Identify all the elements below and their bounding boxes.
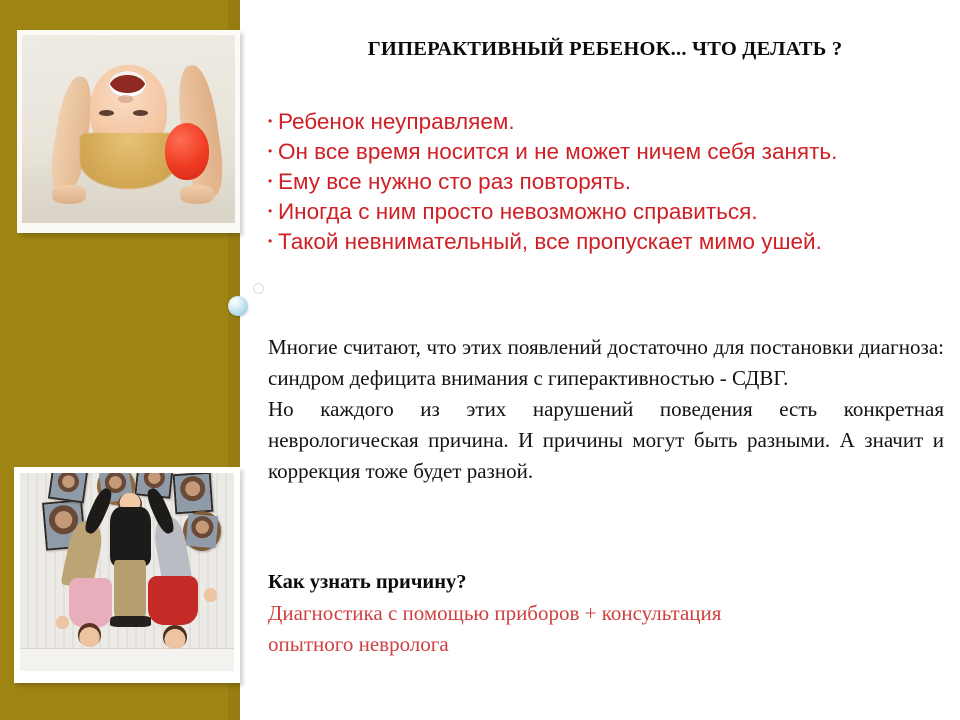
wall-frame-2 — [48, 473, 88, 503]
blue-bubble-icon — [228, 296, 248, 316]
howto-body: Диагностика с помощью приборов + консуль… — [268, 598, 944, 660]
list-item: Он все время носится и не может ничем се… — [268, 137, 940, 167]
wall-frame-6 — [181, 509, 222, 552]
list-item: Такой невнимательный, все пропускает мим… — [268, 227, 940, 257]
photo-three-children — [14, 467, 240, 683]
howto-body-line2: опытного невролога — [268, 629, 944, 660]
list-item: Ему все нужно сто раз повторять. — [268, 167, 940, 197]
photo-bottom-hand-left — [56, 616, 69, 630]
paragraph-diagnosis: Многие считают, что этих появлений доста… — [268, 332, 944, 394]
slide-canvas: ГИПЕРАКТИВНЫЙ РЕБЕНОК... ЧТО ДЕЛАТЬ ? Ре… — [0, 0, 960, 720]
photo-bottom-child-left-head — [78, 623, 102, 647]
photo-bottom-child-center-legs — [114, 560, 146, 619]
photo-bottom-child-left-body — [69, 578, 112, 628]
photo-top-hand-left — [52, 185, 86, 204]
page-title: ГИПЕРАКТИВНЫЙ РЕБЕНОК... ЧТО ДЕЛАТЬ ? — [265, 38, 945, 61]
photo-top-eye-left — [99, 110, 114, 116]
howto-body-line1: Диагностика с помощью приборов + консуль… — [268, 601, 721, 625]
photo-top-artwork — [22, 35, 235, 223]
wall-frame-5 — [173, 473, 214, 514]
photo-top-hand-right — [180, 185, 214, 204]
photo-top-nose — [118, 95, 133, 103]
photo-bottom-child-center-shoes — [110, 616, 151, 628]
photo-bottom-hand-right — [204, 588, 217, 602]
howto-heading: Как узнать причину? — [268, 568, 944, 596]
paragraph-causes: Но каждого из этих нарушений поведения е… — [268, 394, 944, 487]
photo-bottom-child-center-body — [110, 507, 151, 566]
howto-section: Как узнать причину? Диагностика с помощь… — [268, 568, 944, 660]
photo-child-upside-down — [17, 30, 240, 233]
photo-top-hair — [80, 133, 178, 189]
photo-bottom-child-right-head — [163, 625, 187, 649]
photo-bottom-artwork — [20, 473, 234, 671]
symptom-bullet-list: Ребенок неуправляем. Он все время носитс… — [268, 107, 940, 257]
photo-top-open-mouth — [109, 71, 145, 97]
photo-top-red-balloon — [165, 123, 210, 179]
list-item: Ребенок неуправляем. — [268, 107, 940, 137]
photo-bottom-child-right-body — [148, 576, 197, 626]
bullet-list: Ребенок неуправляем. Он все время носитс… — [268, 107, 940, 257]
small-circle-icon — [253, 283, 264, 294]
content-column: ГИПЕРАКТИВНЫЙ РЕБЕНОК... ЧТО ДЕЛАТЬ ? Ре… — [265, 0, 945, 720]
list-item: Иногда с ним просто невозможно справитьс… — [268, 197, 940, 227]
photo-bottom-skirting — [20, 648, 234, 671]
explanation-paragraphs: Многие считают, что этих появлений доста… — [268, 332, 944, 487]
